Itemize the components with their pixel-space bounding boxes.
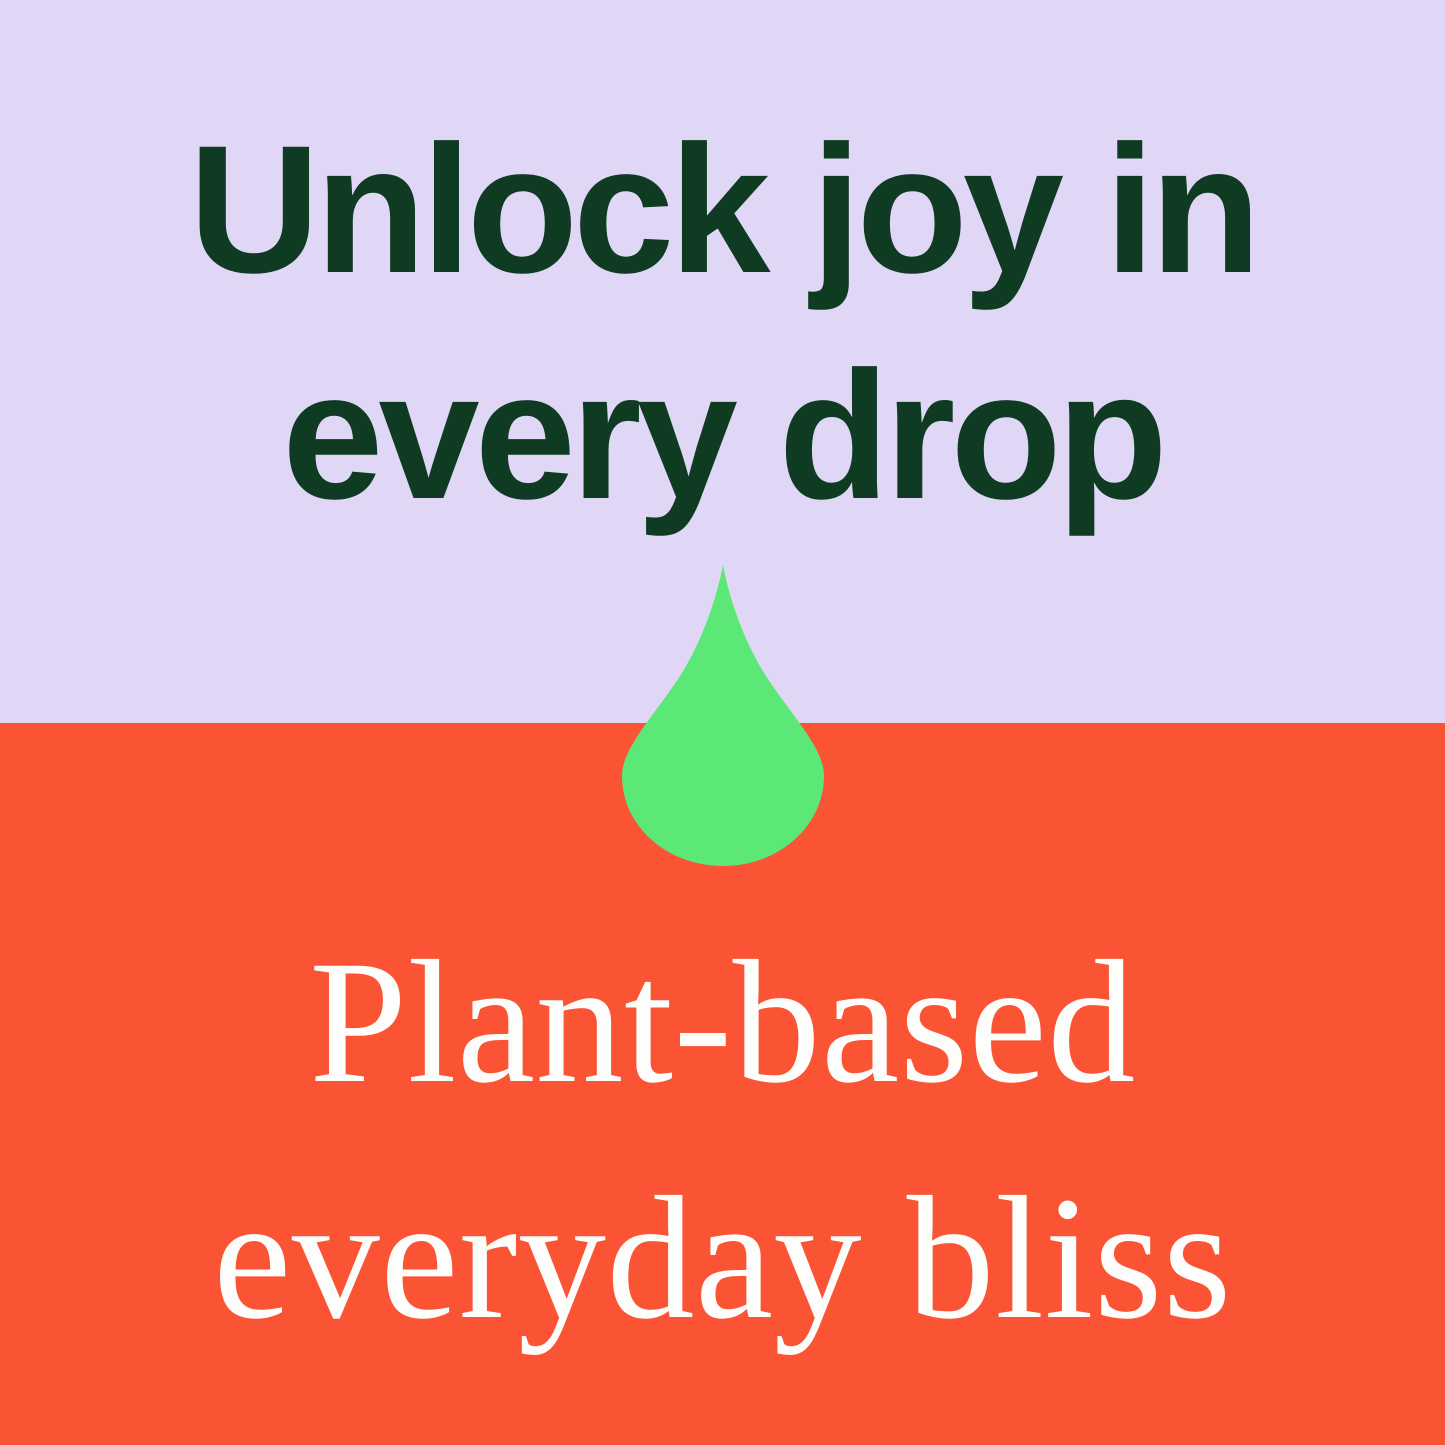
- promo-poster: Unlock joy in every drop Plant-based eve…: [0, 0, 1445, 1445]
- subhead: Plant-based everyday bliss: [0, 905, 1445, 1377]
- water-droplet-icon: [622, 565, 824, 866]
- droplet-shape: [622, 565, 824, 866]
- headline-line-2: every drop: [0, 322, 1445, 548]
- headline-line-1: Unlock joy in: [0, 96, 1445, 322]
- subhead-line-2: everyday bliss: [0, 1141, 1445, 1377]
- headline: Unlock joy in every drop: [0, 96, 1445, 548]
- subhead-line-1: Plant-based: [0, 905, 1445, 1141]
